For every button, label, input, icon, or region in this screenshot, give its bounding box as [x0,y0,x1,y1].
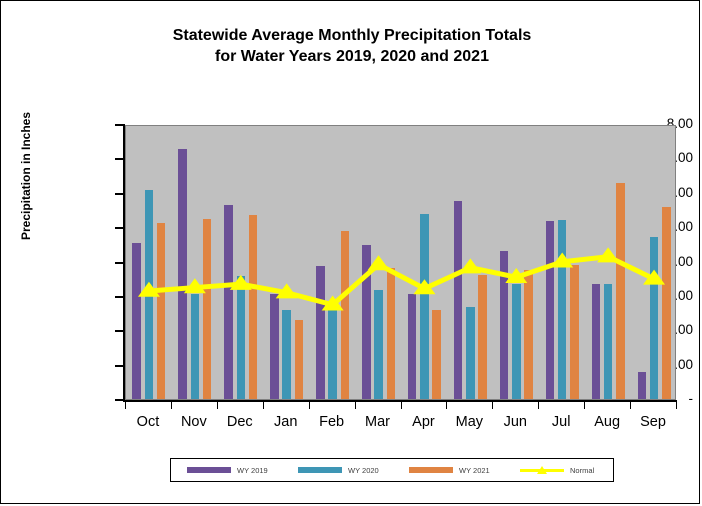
y-axis-title: Precipitation in Inches [19,76,33,276]
bar-wy-2021-sep [662,207,671,399]
bar-wy-2019-may [454,201,463,399]
x-tick-label: May [446,413,492,431]
bar-wy-2020-oct [145,190,154,399]
bar-wy-2021-feb [341,231,350,399]
bar-wy-2021-nov [203,219,212,399]
chart-title: Statewide Average Monthly Precipitation … [1,25,702,67]
bar-wy-2021-aug [616,183,625,399]
bar-wy-2019-feb [316,266,325,399]
chart-frame: Statewide Average Monthly Precipitation … [0,0,700,504]
bar-wy-2019-jan [270,294,279,399]
bar-wy-2019-sep [638,372,647,400]
legend-item-wy-2021[interactable]: WY 2021 [409,459,490,481]
x-tick-label: Dec [217,413,263,431]
bar-wy-2020-sep [650,237,659,399]
bar-wy-2019-jul [546,221,555,399]
x-tick-mark [125,402,126,409]
legend-label: WY 2019 [237,466,268,475]
bar-wy-2020-apr [420,214,429,399]
bar-wy-2021-dec [249,215,258,399]
bar-wy-2019-dec [224,205,233,399]
x-tick-label: Mar [355,413,401,431]
x-tick-label: Oct [125,413,171,431]
y-tick-mark [115,193,123,195]
x-tick-label: Sep [630,413,676,431]
legend-item-normal[interactable]: Normal [520,459,594,481]
x-tick-label: Feb [309,413,355,431]
bar-wy-2021-jul [570,265,579,399]
bar-wy-2021-oct [157,223,166,399]
x-tick-mark [446,402,447,409]
bar-wy-2019-oct [132,243,141,399]
bar-wy-2020-may [466,307,475,399]
legend-label: WY 2021 [459,466,490,475]
normal-marker-may [459,258,481,273]
bar-wy-2020-nov [191,294,200,399]
bar-wy-2020-aug [604,284,613,399]
x-tick-label: Jun [492,413,538,431]
y-tick-mark [115,227,123,229]
bar-wy-2019-mar [362,245,371,399]
bar-wy-2019-jun [500,251,509,399]
legend-label: WY 2020 [348,466,379,475]
x-tick-label: Nov [171,413,217,431]
legend-color-swatch [409,467,453,473]
bar-wy-2020-jan [282,310,291,399]
bar-wy-2021-mar [387,268,396,399]
legend-item-wy-2020[interactable]: WY 2020 [298,459,379,481]
legend-label: Normal [570,466,594,475]
x-tick-mark [676,402,677,409]
y-tick-mark [115,330,123,332]
plot-area [125,125,676,400]
bar-wy-2020-mar [374,290,383,399]
legend-item-wy-2019[interactable]: WY 2019 [187,459,268,481]
y-tick-mark [115,124,123,126]
bar-wy-2020-feb [328,305,337,399]
x-tick-mark [492,402,493,409]
bar-wy-2020-jul [558,220,567,399]
plot-wrapper [125,125,676,400]
x-tick-mark [630,402,631,409]
x-tick-mark [584,402,585,409]
bar-wy-2019-apr [408,294,417,399]
bar-wy-2020-jun [512,284,521,399]
bar-wy-2020-dec [237,276,246,399]
y-tick-mark [115,296,123,298]
bar-wy-2021-apr [432,310,441,399]
x-tick-mark [309,402,310,409]
x-tick-mark [263,402,264,409]
x-tick-label: Aug [584,413,630,431]
x-tick-mark [401,402,402,409]
legend-line-swatch [520,465,564,475]
chart-title-line-2: for Water Years 2019, 2020 and 2021 [1,46,702,67]
bar-wy-2019-nov [178,149,187,399]
legend-color-swatch [298,467,342,473]
x-tick-mark [171,402,172,409]
x-tick-mark [217,402,218,409]
y-tick-mark [115,262,123,264]
chart-legend: WY 2019WY 2020WY 2021Normal [170,458,614,482]
normal-marker-jan [276,283,298,298]
y-tick-mark [115,399,123,401]
bar-wy-2021-may [478,275,487,399]
x-tick-mark [538,402,539,409]
x-tick-label: Jul [538,413,584,431]
y-tick-mark [115,365,123,367]
x-tick-label: Apr [401,413,447,431]
y-tick-mark [115,158,123,160]
bar-wy-2019-aug [592,284,601,399]
x-tick-label: Jan [263,413,309,431]
chart-title-line-1: Statewide Average Monthly Precipitation … [1,25,702,46]
legend-color-swatch [187,467,231,473]
x-tick-mark [355,402,356,409]
bar-wy-2021-jan [295,320,304,399]
bar-wy-2021-jun [524,270,533,399]
normal-line-markers [138,247,665,310]
